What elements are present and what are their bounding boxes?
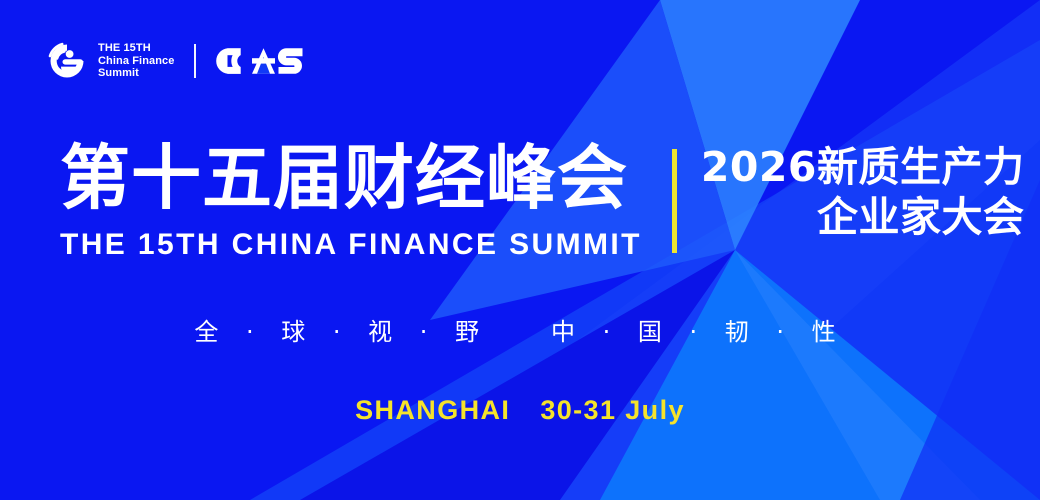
cfs-logotype-icon [214, 44, 306, 78]
wordmark-line-1: THE 15TH [98, 42, 174, 55]
title-accent-bar [672, 149, 677, 253]
venue-date: 30-31 July [540, 395, 685, 426]
wordmark-line-3: Summit [98, 67, 174, 80]
venue-row: SHANGHAI 30-31 July [0, 395, 1040, 426]
china-finance-summit-emblem-icon [45, 39, 89, 83]
page-title-chinese: 第十五届财经峰会 [60, 143, 642, 213]
event-banner: THE 15TH China Finance Summit 第十五届财经峰会 T… [0, 0, 1040, 500]
slogan-row: 全 · 球 · 视 · 野 中 · 国 · 韧 · 性 [0, 312, 1040, 347]
slogan-right: 中 · 国 · 韧 · 性 [551, 312, 846, 347]
logo-lockup[interactable]: THE 15TH China Finance Summit [45, 37, 306, 85]
wordmark-line-2: China Finance [98, 55, 174, 68]
title-left-column: 第十五届财经峰会 THE 15TH CHINA FINANCE SUMMIT [60, 143, 642, 260]
summit-wordmark: THE 15TH China Finance Summit [98, 42, 174, 80]
venue-city: SHANGHAI [355, 395, 510, 426]
slogan-spacer [489, 312, 551, 347]
slogan-left: 全 · 球 · 视 · 野 [194, 312, 489, 347]
page-title-english: THE 15TH CHINA FINANCE SUMMIT [60, 230, 642, 260]
title-right-column: 2026新质生产力 企业家大会 [701, 143, 1025, 240]
subtitle-line-2: 企业家大会 [817, 195, 1025, 239]
title-block: 第十五届财经峰会 THE 15TH CHINA FINANCE SUMMIT 2… [60, 143, 1024, 260]
subtitle-line-1: 2026新质生产力 [701, 145, 1025, 189]
logo-divider [194, 44, 196, 78]
